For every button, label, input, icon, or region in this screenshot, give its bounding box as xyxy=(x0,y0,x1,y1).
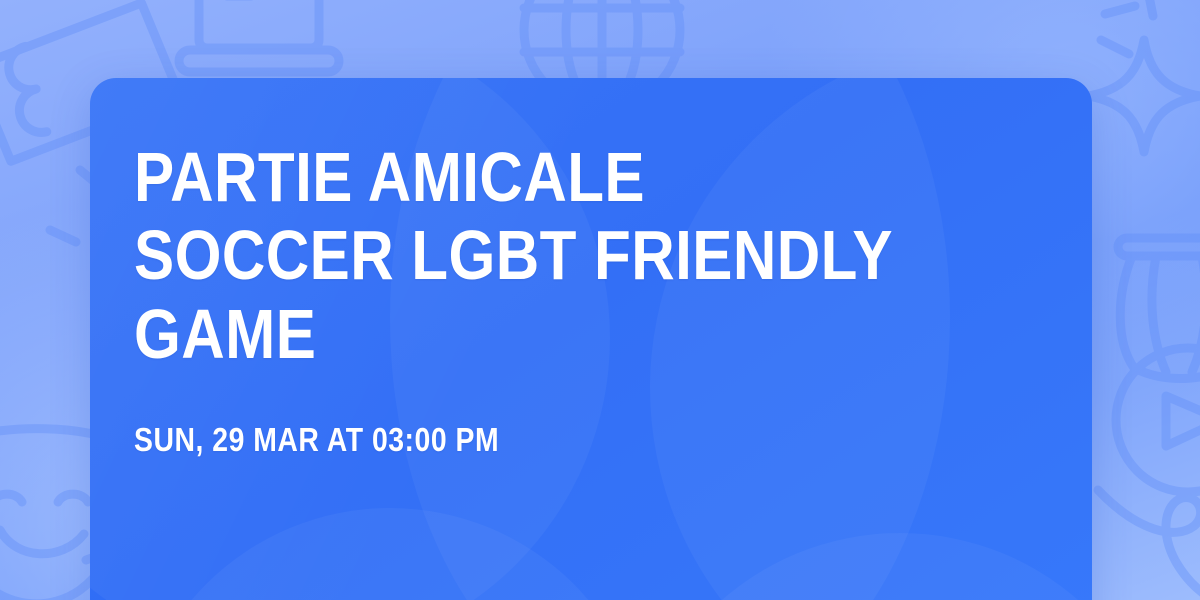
ribbon-swirl-icon xyxy=(1098,490,1200,600)
sparkle-icon xyxy=(1088,40,1200,152)
event-title: Partie Amicale Soccer LGBT Friendly Game xyxy=(134,138,906,373)
event-card[interactable]: Partie Amicale Soccer LGBT Friendly Game… xyxy=(90,78,1092,600)
play-button-icon xyxy=(1116,348,1200,492)
event-date: Sun, 29 Mar at 03:00 PM xyxy=(134,421,906,459)
card-content: Partie Amicale Soccer LGBT Friendly Game… xyxy=(134,138,1032,459)
event-banner: Partie Amicale Soccer LGBT Friendly Game… xyxy=(0,0,1200,600)
laptop-icon xyxy=(179,0,339,72)
